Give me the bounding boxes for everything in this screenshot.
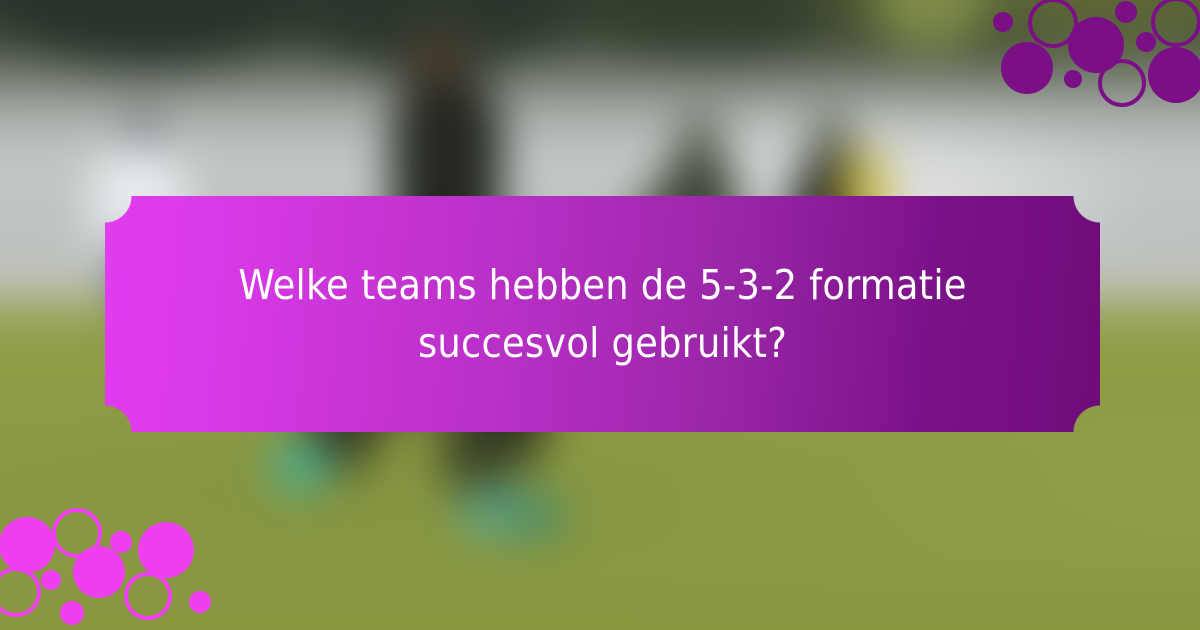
deco-bottom-left-filled-circle [41,570,61,590]
deco-top-right-filled-circle [1136,32,1156,52]
decoration-circles-top-right [980,0,1200,115]
blurred-spectator-head [126,110,160,150]
headline-banner: Welke teams hebben de 5-3-2 formatie suc… [105,196,1100,432]
decoration-circles-bottom-left [0,510,230,630]
deco-top-right-filled-circle [1064,70,1082,88]
deco-top-right-filled-circle [1001,42,1053,94]
blurred-spectator-head [812,118,850,162]
deco-bottom-left-filled-circle [60,601,84,625]
deco-top-right-outline-circle [1098,59,1146,107]
deco-bottom-left-filled-circle [138,522,194,578]
deco-top-right-outline-circle [1151,0,1200,47]
deco-bottom-left-outline-circle [0,567,41,617]
deco-top-right-filled-circle [1115,1,1137,23]
deco-top-right-filled-circle [993,12,1013,32]
deco-bottom-left-filled-circle [0,517,55,573]
deco-top-right-filled-circle [1148,47,1200,103]
page-title: Welke teams hebben de 5-3-2 formatie suc… [175,256,1030,372]
deco-bottom-left-filled-circle [189,591,211,613]
blurred-spectator-head [682,116,718,158]
deco-bottom-left-outline-circle [124,572,172,620]
deco-bottom-left-filled-circle [73,546,125,598]
share-card: Welke teams hebben de 5-3-2 formatie suc… [0,0,1200,630]
